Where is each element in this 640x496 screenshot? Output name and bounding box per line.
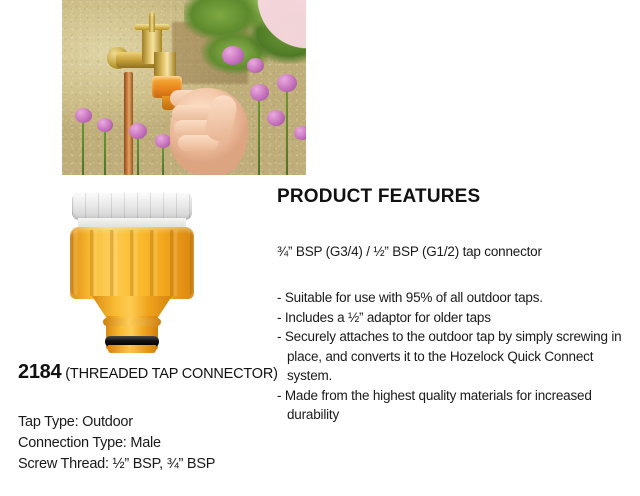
product-shoulder [92,296,172,318]
product-collar-ribs [70,230,194,296]
product-specs: Tap Type: Outdoor Connection Type: Male … [18,412,268,475]
product-cap-ribs [72,193,192,220]
product-sku-line: 2184(THREADED TAP CONNECTOR) [18,361,268,384]
chive-bloom [75,108,92,123]
flower-stem [258,96,260,175]
spec-tap-type: Tap Type: Outdoor [18,412,268,433]
features-intro-text: ¾” BSP (G3/4) / ½” BSP (G1/2) tap connec… [277,242,629,261]
product-barrel-lip [103,318,161,326]
feature-bullet: - Suitable for use with 95% of all outdo… [277,288,629,308]
flower-stem [137,134,139,175]
chive-bloom [155,134,171,148]
flower-stem [162,144,164,175]
copper-pipe [124,72,133,175]
chive-bloom [97,118,113,132]
photo-corner-overlay [250,0,306,54]
tap-handle-stem [149,16,155,32]
features-heading: PRODUCT FEATURES [277,186,629,208]
flower-stem [286,86,288,175]
feature-bullet: - Securely attaches to the outdoor tap b… [277,327,629,386]
flower-stem [104,128,106,175]
product-sku-name: (THREADED TAP CONNECTOR) [65,366,277,382]
chive-bloom [294,126,306,140]
product-info-page: 2184(THREADED TAP CONNECTOR) Tap Type: O… [0,0,640,496]
product-tip [108,345,156,353]
chive-bloom [250,84,269,101]
feature-bullet: - Includes a ½” adaptor for older taps [277,308,629,328]
spec-connection-type: Connection Type: Male [18,433,268,454]
feature-bullet: - Made from the highest quality material… [277,386,629,425]
product-features-section: PRODUCT FEATURES ¾” BSP (G3/4) / ½” BSP … [277,186,629,425]
product-image [62,190,202,350]
lifestyle-photo [62,0,306,175]
product-sku-number: 2184 [18,361,61,383]
chive-bloom [222,46,244,65]
features-bullet-list: - Suitable for use with 95% of all outdo… [277,288,629,425]
flower-stem [82,118,84,175]
chive-bloom [277,74,297,92]
chive-bloom [129,123,147,139]
spec-screw-thread: Screw Thread: ½” BSP, ¾” BSP [18,454,268,475]
chive-bloom [267,110,285,126]
chive-bloom [247,58,264,73]
